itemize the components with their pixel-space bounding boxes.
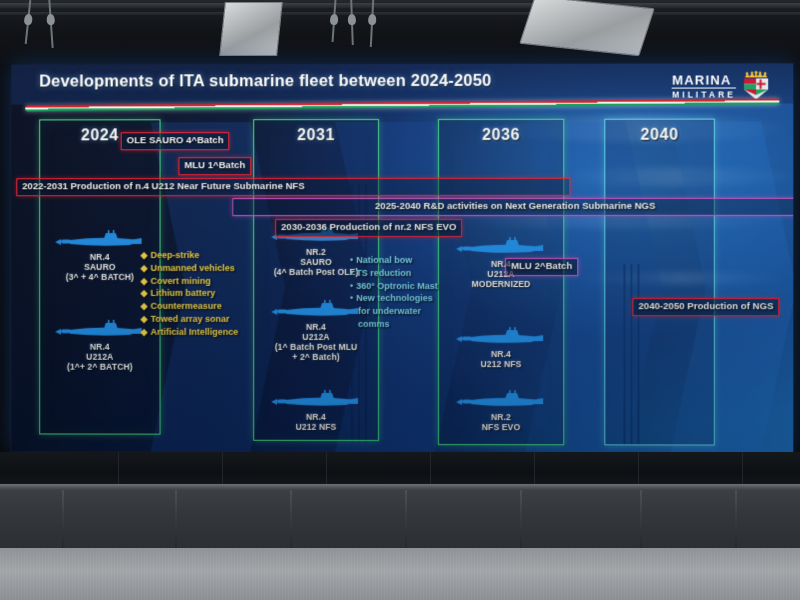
year-label-2040: 2040 <box>605 127 713 145</box>
submarine-entry-u212nfs-2031: NR.4 U212 NFS <box>253 389 379 432</box>
feature-bullet-continuation: for underwater <box>350 305 438 318</box>
bullet-dot-icon: ◆ <box>141 250 148 260</box>
submarine-caption-line: U212 NFS <box>253 422 379 432</box>
feature-bullet: ◆Covert mining <box>141 274 239 287</box>
feature-bullet: •National bow <box>350 254 438 267</box>
feature-bullet: ◆Artificial Intelligence <box>141 325 239 338</box>
submarine-caption-line: (1^+ 2^ BATCH) <box>39 362 160 372</box>
slide-title: Developments of ITA submarine fleet betw… <box>39 72 491 92</box>
feature-bullet-label: Artificial Intelligence <box>150 326 238 336</box>
year-label-2036: 2036 <box>439 127 563 145</box>
submarine-caption-line: U212 NFS <box>438 359 564 369</box>
bullet-dot-icon: • <box>350 255 353 265</box>
submarine-icon <box>453 236 549 258</box>
callout-mlu-2-batch[interactable]: MLU 2^Batch <box>505 258 578 276</box>
photo-of-presentation-screen: Developments of ITA submarine fleet betw… <box>0 0 800 600</box>
submarine-entry-nfsevo-2036: NR.2 NFS EVO <box>438 389 564 432</box>
ceiling-light-panel <box>219 2 283 56</box>
ceiling-beam <box>0 12 800 15</box>
callout-rd-ngs[interactable]: 2025-2040 R&D activities on Next Generat… <box>232 198 793 216</box>
submarine-caption-line: NR.4 <box>438 349 564 359</box>
feature-bullet-label: Towed array sonar <box>150 314 229 324</box>
feature-bullet-label: Covert mining <box>150 275 210 285</box>
presentation-slide: Developments of ITA submarine fleet betw… <box>11 63 793 452</box>
submarine-entry-u212nfs-2036: NR.4 U212 NFS <box>438 326 564 369</box>
logo-line-militare: MILITARE <box>672 90 736 99</box>
feature-list-nfs-evo: •National bow •TS reduction •360° Optron… <box>350 254 438 331</box>
wall-below-screen <box>0 452 800 488</box>
feature-bullet-label: National bow <box>356 255 412 265</box>
callout-production-nfs-evo[interactable]: 2030-2036 Production of nr.2 NFS EVO <box>275 219 462 237</box>
bullet-dot-icon: • <box>350 293 353 303</box>
feature-bullet-label: TS reduction <box>356 268 411 278</box>
feature-bullet: ◆Towed array sonar <box>141 313 239 326</box>
submarine-caption-line: NR.2 <box>438 412 564 422</box>
submarine-caption-line: MODERNIZED <box>438 279 564 289</box>
bullet-dot-icon: ◆ <box>141 301 148 311</box>
bullet-dot-icon: ◆ <box>141 314 148 324</box>
feature-bullet: ◆Countermeasure <box>141 300 239 313</box>
submarine-caption-line: NR.4 <box>253 412 379 422</box>
submarine-caption-line: + 2^ Batch) <box>253 352 379 362</box>
ceiling-beam <box>0 3 800 8</box>
submarine-icon <box>268 389 364 411</box>
year-column-2040[interactable]: 2040 <box>604 119 714 446</box>
submarine-caption-line: NFS EVO <box>438 422 564 432</box>
italian-tricolor-stripe <box>25 99 779 112</box>
year-label-2031: 2031 <box>254 127 378 145</box>
callout-mlu-1-batch[interactable]: MLU 1^Batch <box>178 157 251 175</box>
bullet-dot-icon: • <box>350 281 353 291</box>
feature-bullet-label: Countermeasure <box>150 301 221 311</box>
feature-list-sauro-nfs: ◆Deep-strike ◆Unmanned vehicles ◆Covert … <box>141 249 239 338</box>
submarine-icon <box>453 326 549 348</box>
ceiling <box>0 0 800 66</box>
submarine-icon <box>52 229 147 251</box>
submarine-icon <box>52 319 147 341</box>
marina-militare-logo: MARINA MILITARE <box>672 70 771 101</box>
feature-bullet: ◆Deep-strike <box>141 249 239 262</box>
screen-bezel-left <box>0 64 10 452</box>
callout-production-ngs[interactable]: 2040-2050 Production of NGS <box>632 298 779 316</box>
bullet-dot-icon: • <box>350 268 353 278</box>
logo-line-marina: MARINA <box>672 73 736 88</box>
feature-bullet-label: Deep-strike <box>150 250 199 260</box>
feature-bullet: •New technologies <box>350 292 438 305</box>
callout-ole-sauro[interactable]: OLE SAURO 4^Batch <box>121 132 230 150</box>
feature-bullet: •360° Optronic Mast <box>350 280 438 293</box>
ceiling-light-panel <box>519 0 655 56</box>
bullet-dot-icon: ◆ <box>141 326 148 336</box>
italian-navy-crest-icon <box>741 70 771 101</box>
submarine-caption-line: (1^ Batch Post MLU <box>253 342 379 352</box>
bullet-dot-icon: ◆ <box>141 263 148 273</box>
feature-bullet-label: 360° Optronic Mast <box>356 281 438 291</box>
submarine-caption-line: NR.4 <box>39 342 160 352</box>
bullet-dot-icon: ◆ <box>141 288 148 298</box>
stage-skirt <box>0 490 800 552</box>
feature-bullet-label: Unmanned vehicles <box>150 263 234 273</box>
submarine-caption-line: U212A <box>39 352 160 362</box>
feature-bullet: ◆Unmanned vehicles <box>141 262 239 275</box>
bullet-dot-icon: ◆ <box>141 275 148 285</box>
callout-production-u212-nfs[interactable]: 2022-2031 Production of n.4 U212 Near Fu… <box>16 178 570 196</box>
floor-carpet <box>0 548 800 600</box>
feature-bullet-label: New technologies <box>356 293 433 303</box>
submarine-icon <box>453 389 549 411</box>
feature-bullet-continuation: comms <box>350 318 438 331</box>
feature-bullet-label: Lithium battery <box>150 288 215 298</box>
slide-title-bar: Developments of ITA submarine fleet betw… <box>11 63 793 104</box>
submarine-caption-line: U212A <box>253 332 379 342</box>
feature-bullet: ◆Lithium battery <box>141 287 239 300</box>
feature-bullet: •TS reduction <box>350 267 438 280</box>
